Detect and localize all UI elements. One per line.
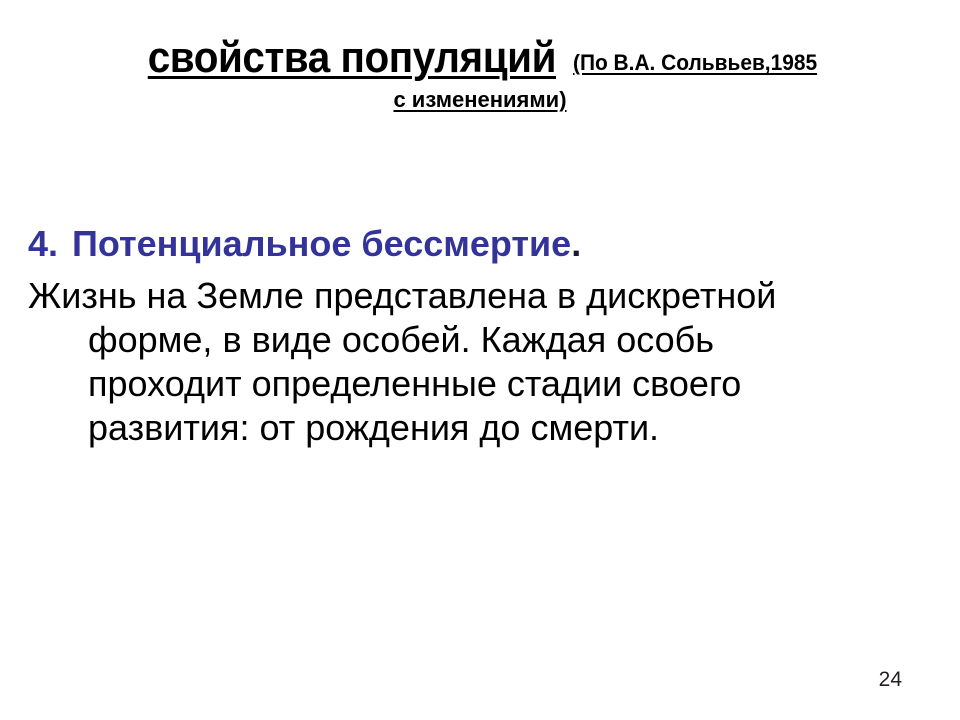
title-citation-line-2: с изменениями) [393,87,566,112]
slide-title: свойства популяций(По В.А. Сольвьев,1985… [0,36,960,113]
title-main-text: свойства популяций [147,36,555,81]
body-line-1: Жизнь на Земле представлена в дискретной [28,274,932,318]
heading-number: 4. [28,222,72,266]
title-line-1: свойства популяций(По В.А. Сольвьев,1985 [0,36,960,81]
numbered-heading: 4.Потенциальное бессмертие. [28,222,932,266]
title-line-2: с изменениями) [0,87,960,113]
body-line-4: развития: от рождения до смерти. [28,406,932,450]
slide-canvas: свойства популяций(По В.А. Сольвьев,1985… [0,0,960,720]
body-line-3: проходит определенные стадии своего [28,362,932,406]
body-paragraph: Жизнь на Земле представлена в дискретной… [28,274,932,450]
body-line-2: форме, в виде особей. Каждая особь [28,318,932,362]
title-citation-line-1: (По В.А. Сольвьев,1985 [573,52,817,74]
page-number: 24 [879,668,902,692]
heading-text: Потенциальное бессмертие [72,223,571,264]
slide-content: 4.Потенциальное бессмертие. Жизнь на Зем… [28,222,932,450]
heading-period: . [571,223,581,264]
